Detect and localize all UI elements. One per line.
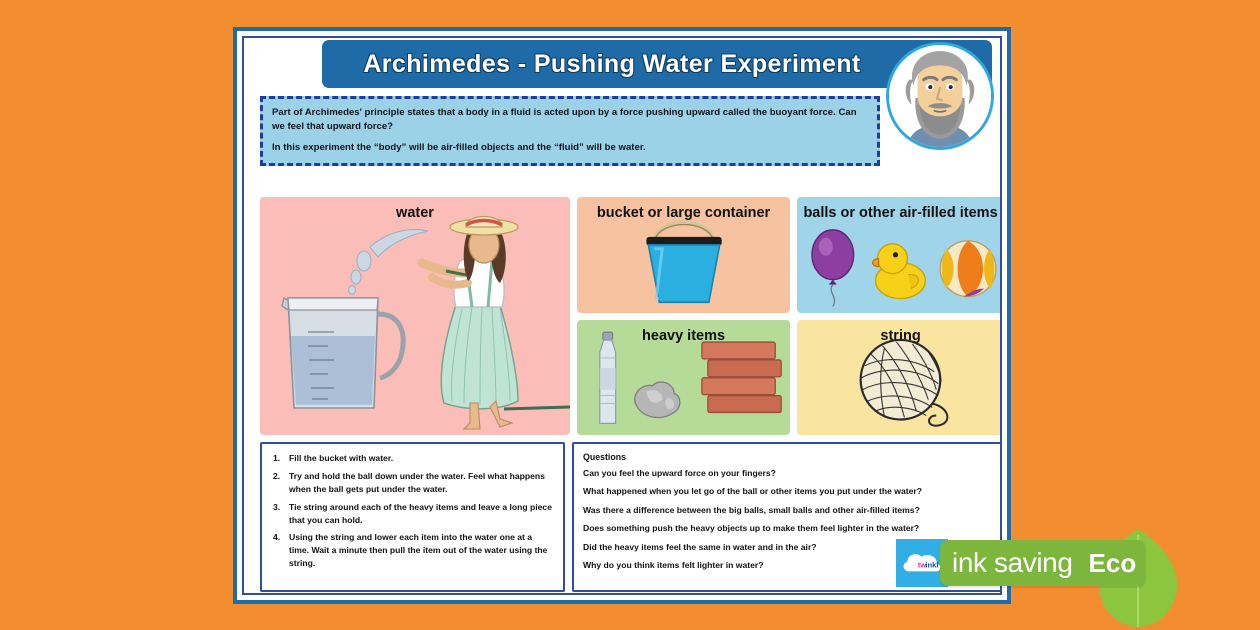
step-item: Try and hold the ball down under the wat… [271, 470, 554, 496]
material-label-bucket: bucket or large container [577, 197, 790, 221]
water-illustration [260, 197, 570, 435]
svg-text:inkl: inkl [925, 561, 938, 570]
intro-box: Part of Archimedes' principle states tha… [260, 96, 880, 166]
material-panel-heavy-items: heavy items [577, 320, 790, 436]
materials-grid: water [260, 197, 1002, 435]
intro-paragraph-1: Part of Archimedes' principle states tha… [272, 106, 868, 134]
question-item: Was there a difference between the big b… [583, 504, 993, 517]
ink-saving-label: ink saving [952, 547, 1073, 579]
questions-title: Questions [583, 452, 993, 462]
step-item: Using the string and lower each item int… [271, 531, 554, 570]
worksheet-page: Archimedes - Pushing Water Experiment [233, 27, 1011, 604]
material-panel-string: string [797, 320, 1002, 436]
step-item: Tie string around each of the heavy item… [271, 501, 554, 527]
screenshot-root: Archimedes - Pushing Water Experiment [0, 0, 1260, 630]
eco-label: Eco [1089, 548, 1137, 579]
material-label-balls: balls or other air-filled items [797, 197, 1002, 221]
question-item: Can you feel the upward force on your fi… [583, 467, 993, 480]
material-label-heavy-items: heavy items [577, 320, 790, 344]
materials-row-bottom: heavy items [577, 320, 1002, 436]
step-item: Fill the bucket with water. [271, 452, 554, 465]
material-panel-bucket: bucket or large container [577, 197, 790, 313]
materials-right-column: bucket or large container [577, 197, 1002, 435]
question-item: What happened when you let go of the bal… [583, 485, 993, 498]
material-panel-balls: balls or other air-filled items [797, 197, 1002, 313]
ink-saving-pill: ink saving Eco [940, 540, 1146, 586]
steps-box: Fill the bucket with water. Try and hold… [260, 442, 565, 592]
archimedes-portrait-icon [886, 42, 994, 150]
bottom-section: Fill the bucket with water. Try and hold… [260, 442, 1002, 592]
intro-paragraph-2: In this experiment the “body” will be ai… [272, 141, 868, 155]
material-label-water: water [260, 197, 570, 221]
eco-badge: tw inkl ink saving Eco [896, 533, 1146, 593]
worksheet-page-inner: Archimedes - Pushing Water Experiment [242, 36, 1002, 595]
material-label-string: string [797, 320, 1002, 344]
material-panel-water: water [260, 197, 570, 435]
worksheet-header: Archimedes - Pushing Water Experiment [244, 38, 1000, 90]
materials-row-top: bucket or large container [577, 197, 1002, 313]
steps-list: Fill the bucket with water. Try and hold… [271, 452, 554, 570]
page-title: Archimedes - Pushing Water Experiment [363, 50, 950, 79]
